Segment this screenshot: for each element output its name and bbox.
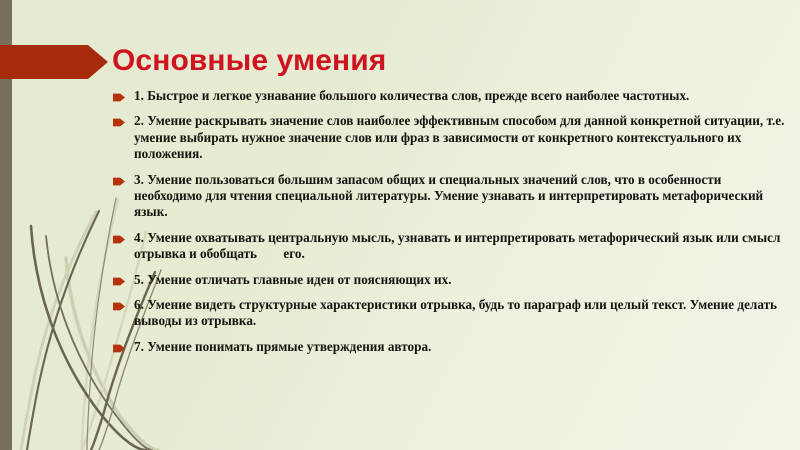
bullet-list: 1. Быстрое и легкое узнавание большого к… bbox=[113, 88, 785, 364]
pennant-bullet-icon bbox=[113, 302, 125, 311]
list-item: 3. Умение пользоваться большим запасом о… bbox=[113, 172, 785, 221]
list-item-text: 6. Умение видеть структурные характерист… bbox=[134, 297, 785, 330]
pennant-bullet-icon bbox=[113, 93, 125, 102]
pennant-bullet-icon bbox=[113, 235, 125, 244]
list-item-text: 7. Умение понимать прямые утверждения ав… bbox=[134, 339, 785, 355]
pennant-bullet-icon bbox=[113, 277, 125, 286]
pennant-bullet-icon bbox=[113, 344, 125, 353]
list-item: 6. Умение видеть структурные характерист… bbox=[113, 297, 785, 330]
list-item-text: 3. Умение пользоваться большим запасом о… bbox=[134, 172, 785, 221]
list-item-text: 5. Умение отличать главные идеи от поясн… bbox=[134, 272, 785, 288]
list-item: 4. Умение охватывать центральную мысль, … bbox=[113, 230, 785, 263]
list-item-text: 2. Умение раскрывать значение слов наибо… bbox=[134, 113, 785, 162]
list-item: 7. Умение понимать прямые утверждения ав… bbox=[113, 339, 785, 355]
pennant-bullet-icon bbox=[113, 118, 125, 127]
list-item-text: 4. Умение охватывать центральную мысль, … bbox=[134, 230, 785, 263]
list-item: 2. Умение раскрывать значение слов наибо… bbox=[113, 113, 785, 162]
list-item-text: 1. Быстрое и легкое узнавание большого к… bbox=[134, 88, 785, 104]
pennant-bullet-icon bbox=[113, 177, 125, 186]
list-item: 1. Быстрое и легкое узнавание большого к… bbox=[113, 88, 785, 104]
page-title: Основные умения bbox=[112, 40, 386, 82]
list-item: 5. Умение отличать главные идеи от поясн… bbox=[113, 272, 785, 288]
slide-canvas: Основные умения 1. Быстрое и легкое узна… bbox=[0, 0, 800, 450]
title-arrow-banner bbox=[0, 45, 108, 79]
